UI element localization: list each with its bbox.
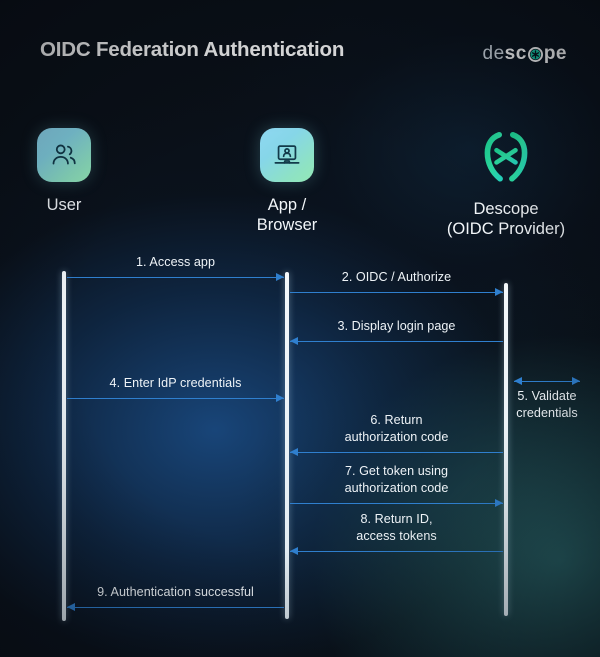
message-label-7: 7. Get token usingauthorization code — [290, 463, 503, 496]
message-arrowhead-1-right — [276, 273, 284, 281]
descope-brackets-icon — [476, 128, 536, 186]
message-arrowhead-8-left — [290, 547, 298, 555]
message-label-5: 5. Validatecredentials — [500, 388, 594, 421]
message-line-8 — [290, 551, 503, 552]
message-arrowhead-5-right — [572, 377, 580, 385]
laptop-user-icon — [260, 128, 314, 182]
message-label-4: 4. Enter IdP credentials — [67, 375, 284, 392]
actor-label-app: App /Browser — [202, 195, 372, 236]
actor-label-user: User — [0, 195, 149, 215]
message-line-4 — [67, 398, 284, 399]
users-icon — [37, 128, 91, 182]
message-line-3 — [290, 341, 503, 342]
message-line-7 — [290, 503, 503, 504]
lifeline-app — [285, 272, 289, 619]
message-line-9 — [67, 607, 284, 608]
descope-o-mark-icon — [528, 47, 543, 62]
message-label-8: 8. Return ID,access tokens — [290, 511, 503, 544]
message-arrowhead-9-left — [67, 603, 75, 611]
message-line-2 — [290, 292, 503, 293]
descope-logo: desc pe — [483, 43, 567, 65]
message-arrowhead-3-left — [290, 337, 298, 345]
message-label-2: 2. OIDC / Authorize — [290, 269, 503, 286]
message-label-1: 1. Access app — [67, 254, 284, 271]
message-line-5 — [514, 381, 580, 382]
message-label-3: 3. Display login page — [290, 318, 503, 335]
brand-suffix: pe — [544, 43, 567, 65]
brand-prefix: de — [483, 43, 505, 65]
message-arrowhead-5-left — [514, 377, 522, 385]
actor-descope: Descope(OIDC Provider) — [421, 128, 591, 240]
message-line-6 — [290, 452, 503, 453]
lifeline-descope — [504, 283, 508, 616]
message-label-9: 9. Authentication successful — [67, 584, 284, 601]
actor-user: User — [0, 128, 149, 215]
actor-app: App /Browser — [202, 128, 372, 236]
message-arrowhead-6-left — [290, 448, 298, 456]
actor-label-descope: Descope(OIDC Provider) — [421, 199, 591, 240]
brand-mid: sc — [505, 43, 527, 65]
page-title: OIDC Federation Authentication — [40, 38, 344, 62]
message-arrowhead-2-right — [495, 288, 503, 296]
message-line-1 — [67, 277, 284, 278]
message-label-6: 6. Returnauthorization code — [290, 412, 503, 445]
message-arrowhead-7-right — [495, 499, 503, 507]
diagram-canvas: OIDC Federation Authentication desc pe U… — [0, 0, 600, 657]
lifeline-user — [62, 271, 66, 621]
message-arrowhead-4-right — [276, 394, 284, 402]
